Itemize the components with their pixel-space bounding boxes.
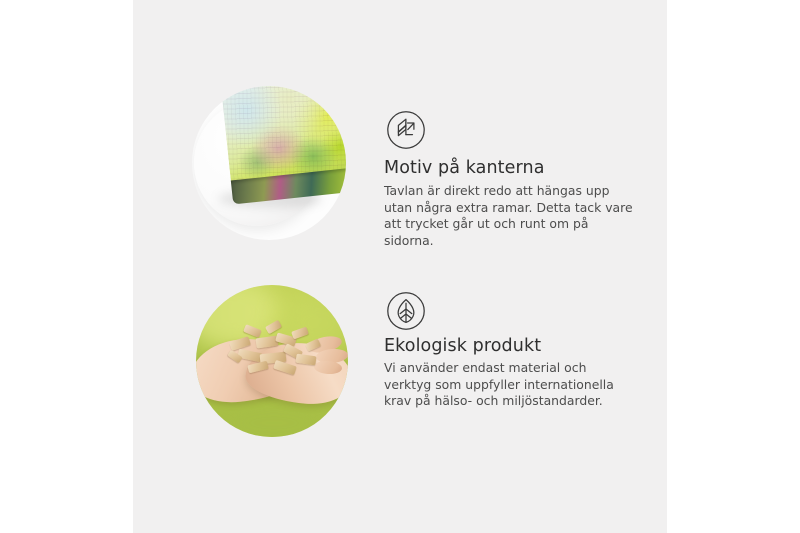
canvas-wrapped-edge-icon: [386, 110, 426, 154]
feature-body: Tavlan är direkt redo att hängas upp uta…: [384, 183, 634, 249]
canvas-corner-photo: [192, 86, 346, 240]
leaf-icon: [386, 291, 426, 335]
feature-body: Vi använder endast material och verktyg …: [384, 360, 634, 410]
wood-chips: [226, 319, 324, 381]
product-feature-banner: Motiv på kanterna Tavlan är direkt redo …: [0, 0, 800, 533]
hands-with-wood-chips-photo: [196, 285, 348, 437]
canvas-block: [221, 86, 346, 206]
feature-heading: Motiv på kanterna: [384, 158, 545, 178]
feature-heading: Ekologisk produkt: [384, 336, 541, 356]
content-panel: [133, 0, 667, 533]
